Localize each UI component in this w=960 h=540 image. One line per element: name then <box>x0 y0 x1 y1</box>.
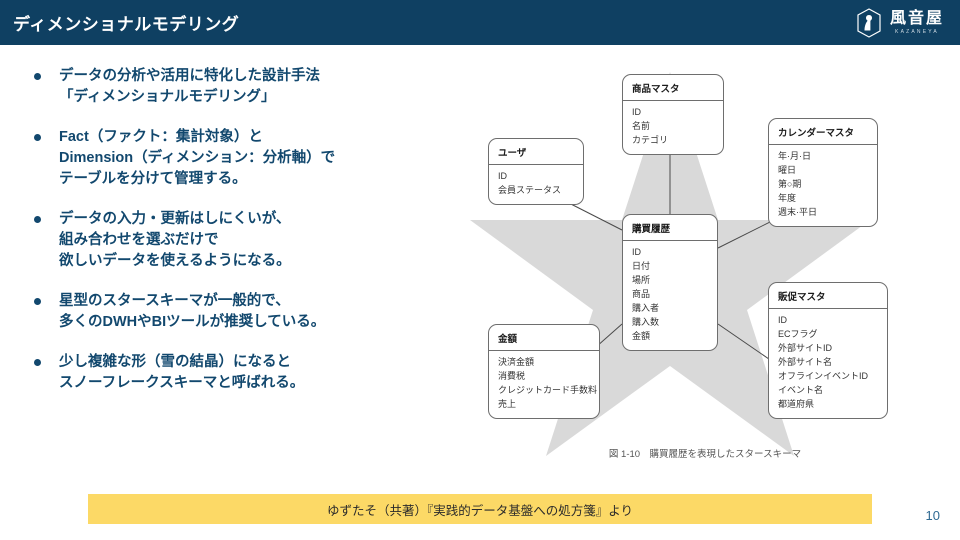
bullet-dot-icon <box>34 359 41 366</box>
entity-field: オフラインイベントID <box>778 370 878 384</box>
bullet-text: 少し複雑な形（雪の結晶）になると スノーフレークスキーマと呼ばれる。 <box>59 352 304 394</box>
page-title: ディメンショナルモデリング <box>13 10 239 35</box>
star-schema-diagram: 商品マスタ ID 名前 カテゴリ カレンダーマスタ 年·月·日 曜日 第○期 年… <box>470 58 940 473</box>
entity-field: イベント名 <box>778 384 878 398</box>
entity-field-list: ID 名前 カテゴリ <box>623 101 723 154</box>
entity-field-list: 年·月·日 曜日 第○期 年度 週末·平日 <box>769 145 877 226</box>
entity-field: ECフラグ <box>778 328 878 342</box>
list-item: データの分析や活用に特化した設計手法 「ディメンショナルモデリング」 <box>34 66 464 108</box>
entity-field: クレジットカード手数料 <box>498 384 590 398</box>
entity-field: ID <box>778 314 878 328</box>
entity-field: 会員ステータス <box>498 184 574 198</box>
list-item: Fact（ファクト：集計対象）と Dimension（ディメンション：分析軸）で… <box>34 127 464 190</box>
bullet-text: 星型のスタースキーマが一般的で、 多くのDWHやBIツールが推奨している。 <box>59 291 325 333</box>
entity-title: カレンダーマスタ <box>769 119 877 145</box>
brand-name: 風音屋 <box>890 11 944 27</box>
entity-amount-master: 金額 決済金額 消費税 クレジットカード手数料 売上 <box>488 324 600 419</box>
bullet-dot-icon <box>34 298 41 305</box>
entity-field-list: ID ECフラグ 外部サイトID 外部サイト名 オフラインイベントID イベント… <box>769 309 887 418</box>
list-item: データの入力・更新はしにくいが、 組み合わせを選ぶだけで 欲しいデータを使えるよ… <box>34 209 464 272</box>
entity-field: 名前 <box>632 120 714 134</box>
entity-field: 都道府県 <box>778 398 878 412</box>
entity-field: 売上 <box>498 398 590 412</box>
brand-romaji: KAZANEYA <box>895 30 939 35</box>
entity-field: 決済金額 <box>498 356 590 370</box>
entity-title: 金額 <box>489 325 599 351</box>
entity-purchase-history-fact: 購買履歴 ID 日付 場所 商品 購入者 購入数 金額 <box>622 214 718 351</box>
entity-field: 外部サイト名 <box>778 356 878 370</box>
bullet-list: データの分析や活用に特化した設計手法 「ディメンショナルモデリング」 Fact（… <box>34 66 464 413</box>
entity-field: 第○期 <box>778 178 868 192</box>
entity-field-list: ID 日付 場所 商品 購入者 購入数 金額 <box>623 241 717 350</box>
list-item: 星型のスタースキーマが一般的で、 多くのDWHやBIツールが推奨している。 <box>34 291 464 333</box>
bullet-text: データの分析や活用に特化した設計手法 「ディメンショナルモデリング」 <box>59 66 320 108</box>
bullet-text: Fact（ファクト：集計対象）と Dimension（ディメンション：分析軸）で… <box>59 127 335 190</box>
entity-field: 外部サイトID <box>778 342 878 356</box>
figure-caption: 図 1-10 購買履歴を表現したスタースキーマ <box>470 446 940 460</box>
bullet-dot-icon <box>34 216 41 223</box>
entity-field: ID <box>498 170 574 184</box>
brand-text: 風音屋 KAZANEYA <box>890 11 944 35</box>
list-item: 少し複雑な形（雪の結晶）になると スノーフレークスキーマと呼ばれる。 <box>34 352 464 394</box>
entity-field: 購入者 <box>632 302 708 316</box>
entity-field-list: 決済金額 消費税 クレジットカード手数料 売上 <box>489 351 599 418</box>
entity-field: 週末·平日 <box>778 206 868 220</box>
bullet-dot-icon <box>34 73 41 80</box>
entity-field: 曜日 <box>778 164 868 178</box>
entity-field: 年度 <box>778 192 868 206</box>
entity-field: 場所 <box>632 274 708 288</box>
entity-title: 購買履歴 <box>623 215 717 241</box>
entity-field: 日付 <box>632 260 708 274</box>
page-number: 10 <box>926 508 940 523</box>
entity-field: カテゴリ <box>632 134 714 148</box>
entity-field-list: ID 会員ステータス <box>489 165 583 204</box>
entity-field: 年·月·日 <box>778 150 868 164</box>
entity-title: 販促マスタ <box>769 283 887 309</box>
entity-calendar-master: カレンダーマスタ 年·月·日 曜日 第○期 年度 週末·平日 <box>768 118 878 227</box>
slide-header: ディメンショナルモデリング 風音屋 KAZANEYA <box>0 0 960 45</box>
entity-field: 消費税 <box>498 370 590 384</box>
entity-field: 金額 <box>632 330 708 344</box>
entity-field: ID <box>632 106 714 120</box>
bullet-dot-icon <box>34 134 41 141</box>
entity-title: 商品マスタ <box>623 75 723 101</box>
entity-field: 購入数 <box>632 316 708 330</box>
entity-field: 商品 <box>632 288 708 302</box>
citation-text: ゆずたそ（共著）『実践的データ基盤への処方箋』より <box>327 500 633 519</box>
entity-field: ID <box>632 246 708 260</box>
entity-title: ユーザ <box>489 139 583 165</box>
brand-logo: 風音屋 KAZANEYA <box>856 8 944 38</box>
kazaneya-hexagon-icon <box>856 8 882 38</box>
citation-bar: ゆずたそ（共著）『実践的データ基盤への処方箋』より <box>88 494 872 524</box>
link-fact-to-user <box>565 201 622 230</box>
entity-promotion-master: 販促マスタ ID ECフラグ 外部サイトID 外部サイト名 オフラインイベントI… <box>768 282 888 419</box>
entity-user-master: ユーザ ID 会員ステータス <box>488 138 584 205</box>
bullet-text: データの入力・更新はしにくいが、 組み合わせを選ぶだけで 欲しいデータを使えるよ… <box>59 209 291 272</box>
entity-product-master: 商品マスタ ID 名前 カテゴリ <box>622 74 724 155</box>
